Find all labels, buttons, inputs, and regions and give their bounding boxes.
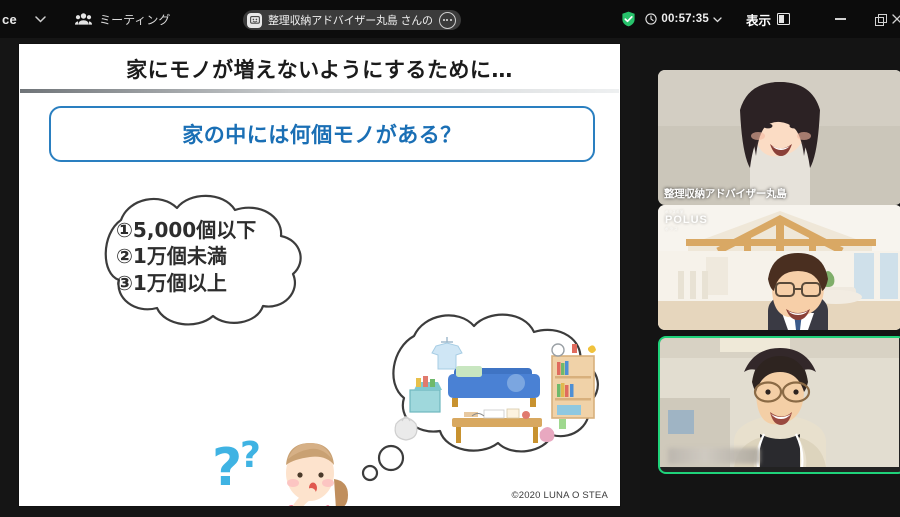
meeting-tab-label: ミーティング bbox=[99, 11, 170, 28]
polus-watermark-sub: ポラス bbox=[665, 226, 708, 231]
panel-divider[interactable] bbox=[628, 38, 640, 517]
title-divider bbox=[20, 89, 619, 93]
titlebar-right-group: 00:57:35 表示 bbox=[621, 0, 900, 38]
question-box: 家の中には何個モノがある？ bbox=[49, 106, 595, 162]
participant-tile-2[interactable]: ポラスの家 POLUS ポラス bbox=[658, 205, 900, 330]
participant-tile-3-active[interactable] bbox=[658, 336, 900, 474]
more-options-icon[interactable] bbox=[439, 12, 456, 29]
app-name-label: ce bbox=[2, 12, 17, 27]
clock-icon bbox=[645, 13, 657, 25]
option-1: ①5,000個以下 bbox=[116, 217, 346, 243]
participant-video-rail: 整理収納アドバイザー丸島 bbox=[640, 38, 900, 517]
chevron-down-icon[interactable] bbox=[29, 0, 51, 38]
blurred-name-label bbox=[668, 448, 760, 464]
svg-text:?: ? bbox=[240, 435, 261, 476]
meeting-tab[interactable]: ミーティング bbox=[75, 11, 170, 28]
titlebar-left-group: ce ミーティング bbox=[0, 0, 170, 38]
puzzled-woman-illustration bbox=[264, 429, 369, 507]
share-pill-label: 整理収納アドバイザー丸島 さんの bbox=[268, 12, 433, 28]
meeting-timer[interactable]: 00:57:35 bbox=[645, 10, 722, 28]
polus-watermark: ポラスの家 POLUS ポラス bbox=[665, 209, 708, 231]
copyright-text: ©2020 LUNA O STEA bbox=[512, 490, 608, 501]
thought-bubble-right bbox=[344, 306, 621, 491]
question-text: 家の中には何個モノがある？ bbox=[182, 119, 462, 149]
meeting-window: ce ミーティング bbox=[0, 0, 900, 517]
presentation-slide: 家にモノが増えないようにするために… 家の中には何個モノがある？ ①5,000個… bbox=[18, 43, 621, 507]
minimize-button[interactable] bbox=[820, 0, 860, 38]
title-bar: ce ミーティング bbox=[0, 0, 900, 38]
answer-options-list: ①5,000個以下 ②1万個未満 ③1万個以上 bbox=[116, 217, 346, 296]
share-status-pill[interactable]: 整理収納アドバイザー丸島 さんの bbox=[243, 10, 461, 30]
screen-share-icon bbox=[247, 13, 262, 28]
shared-screen-stage[interactable]: 家にモノが増えないようにするために… 家の中には何個モノがある？ ①5,000個… bbox=[0, 38, 633, 517]
video-feed-1 bbox=[658, 70, 900, 205]
slide-title: 家にモノが増えないようにするために… bbox=[19, 54, 620, 84]
timer-value: 00:57:35 bbox=[661, 13, 709, 25]
participant-name-label: 整理収納アドバイザー丸島 bbox=[664, 186, 786, 201]
option-3: ③1万個以上 bbox=[116, 270, 346, 296]
green-shield-icon[interactable] bbox=[621, 11, 636, 27]
layout-icon bbox=[777, 13, 790, 25]
close-button[interactable] bbox=[888, 0, 900, 38]
option-2: ②1万個未満 bbox=[116, 243, 346, 269]
people-icon bbox=[75, 12, 92, 26]
chevron-down-icon[interactable] bbox=[713, 10, 722, 28]
svg-text:?: ? bbox=[212, 438, 242, 498]
view-button-label: 表示 bbox=[746, 10, 771, 29]
view-button[interactable]: 表示 bbox=[746, 10, 790, 29]
polus-watermark-main: POLUS bbox=[665, 214, 708, 226]
participant-tile-1[interactable]: 整理収納アドバイザー丸島 bbox=[658, 70, 900, 205]
